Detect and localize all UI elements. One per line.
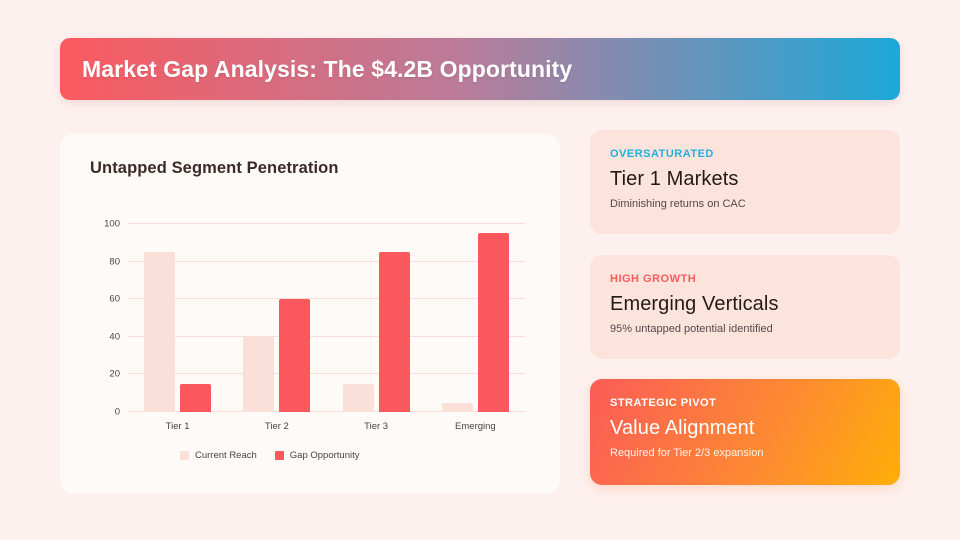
bar-current-reach[interactable] — [343, 384, 374, 412]
bar-group: Tier 2 — [227, 224, 326, 412]
page-title: Market Gap Analysis: The $4.2B Opportuni… — [82, 56, 572, 83]
insight-kicker: HIGH GROWTH — [610, 273, 880, 285]
x-axis-tick-label: Tier 1 — [166, 421, 190, 432]
legend-label: Current Reach — [195, 450, 257, 461]
chart-bars: Tier 1Tier 2Tier 3Emerging — [128, 224, 525, 412]
chart-legend: Current ReachGap Opportunity — [180, 450, 360, 461]
y-axis-tick-label: 40 — [109, 331, 120, 342]
insight-card-oversaturated[interactable]: OVERSATURATED Tier 1 Markets Diminishing… — [590, 130, 900, 234]
insight-subtext: Diminishing returns on CAC — [610, 198, 880, 210]
insight-heading: Tier 1 Markets — [610, 168, 880, 191]
bar-group: Emerging — [426, 224, 525, 412]
insight-heading: Value Alignment — [610, 417, 880, 440]
legend-swatch-icon — [275, 451, 284, 460]
bar-group: Tier 1 — [128, 224, 227, 412]
bar-gap-opportunity[interactable] — [478, 233, 509, 412]
y-axis-tick-label: 20 — [109, 369, 120, 380]
legend-item[interactable]: Current Reach — [180, 450, 257, 461]
x-axis-tick-label: Tier 3 — [364, 421, 388, 432]
insight-kicker: OVERSATURATED — [610, 148, 880, 160]
bar-current-reach[interactable] — [442, 403, 473, 412]
chart-title: Untapped Segment Penetration — [90, 159, 339, 178]
x-axis-tick-label: Emerging — [455, 421, 496, 432]
bar-chart-plot: 020406080100 Tier 1Tier 2Tier 3Emerging — [128, 224, 525, 412]
insight-subtext: Required for Tier 2/3 expansion — [610, 447, 880, 459]
insight-kicker: STRATEGIC PIVOT — [610, 397, 880, 409]
legend-item[interactable]: Gap Opportunity — [275, 450, 360, 461]
y-axis-tick-label: 80 — [109, 256, 120, 267]
legend-label: Gap Opportunity — [290, 450, 360, 461]
y-axis-tick-label: 0 — [115, 407, 120, 418]
bar-gap-opportunity[interactable] — [180, 384, 211, 412]
bar-current-reach[interactable] — [243, 337, 274, 412]
header-banner: Market Gap Analysis: The $4.2B Opportuni… — [60, 38, 900, 100]
bar-group: Tier 3 — [327, 224, 426, 412]
bar-current-reach[interactable] — [144, 252, 175, 412]
slide-root: Market Gap Analysis: The $4.2B Opportuni… — [0, 0, 960, 540]
chart-card: Untapped Segment Penetration 02040608010… — [60, 134, 560, 494]
bar-gap-opportunity[interactable] — [279, 299, 310, 412]
y-axis-tick-label: 60 — [109, 294, 120, 305]
legend-swatch-icon — [180, 451, 189, 460]
insight-subtext: 95% untapped potential identified — [610, 323, 880, 335]
y-axis-tick-label: 100 — [104, 219, 120, 230]
insight-card-strategic-pivot[interactable]: STRATEGIC PIVOT Value Alignment Required… — [590, 379, 900, 485]
bar-gap-opportunity[interactable] — [379, 252, 410, 412]
x-axis-tick-label: Tier 2 — [265, 421, 289, 432]
insight-heading: Emerging Verticals — [610, 293, 880, 316]
insight-card-high-growth[interactable]: HIGH GROWTH Emerging Verticals 95% untap… — [590, 255, 900, 359]
